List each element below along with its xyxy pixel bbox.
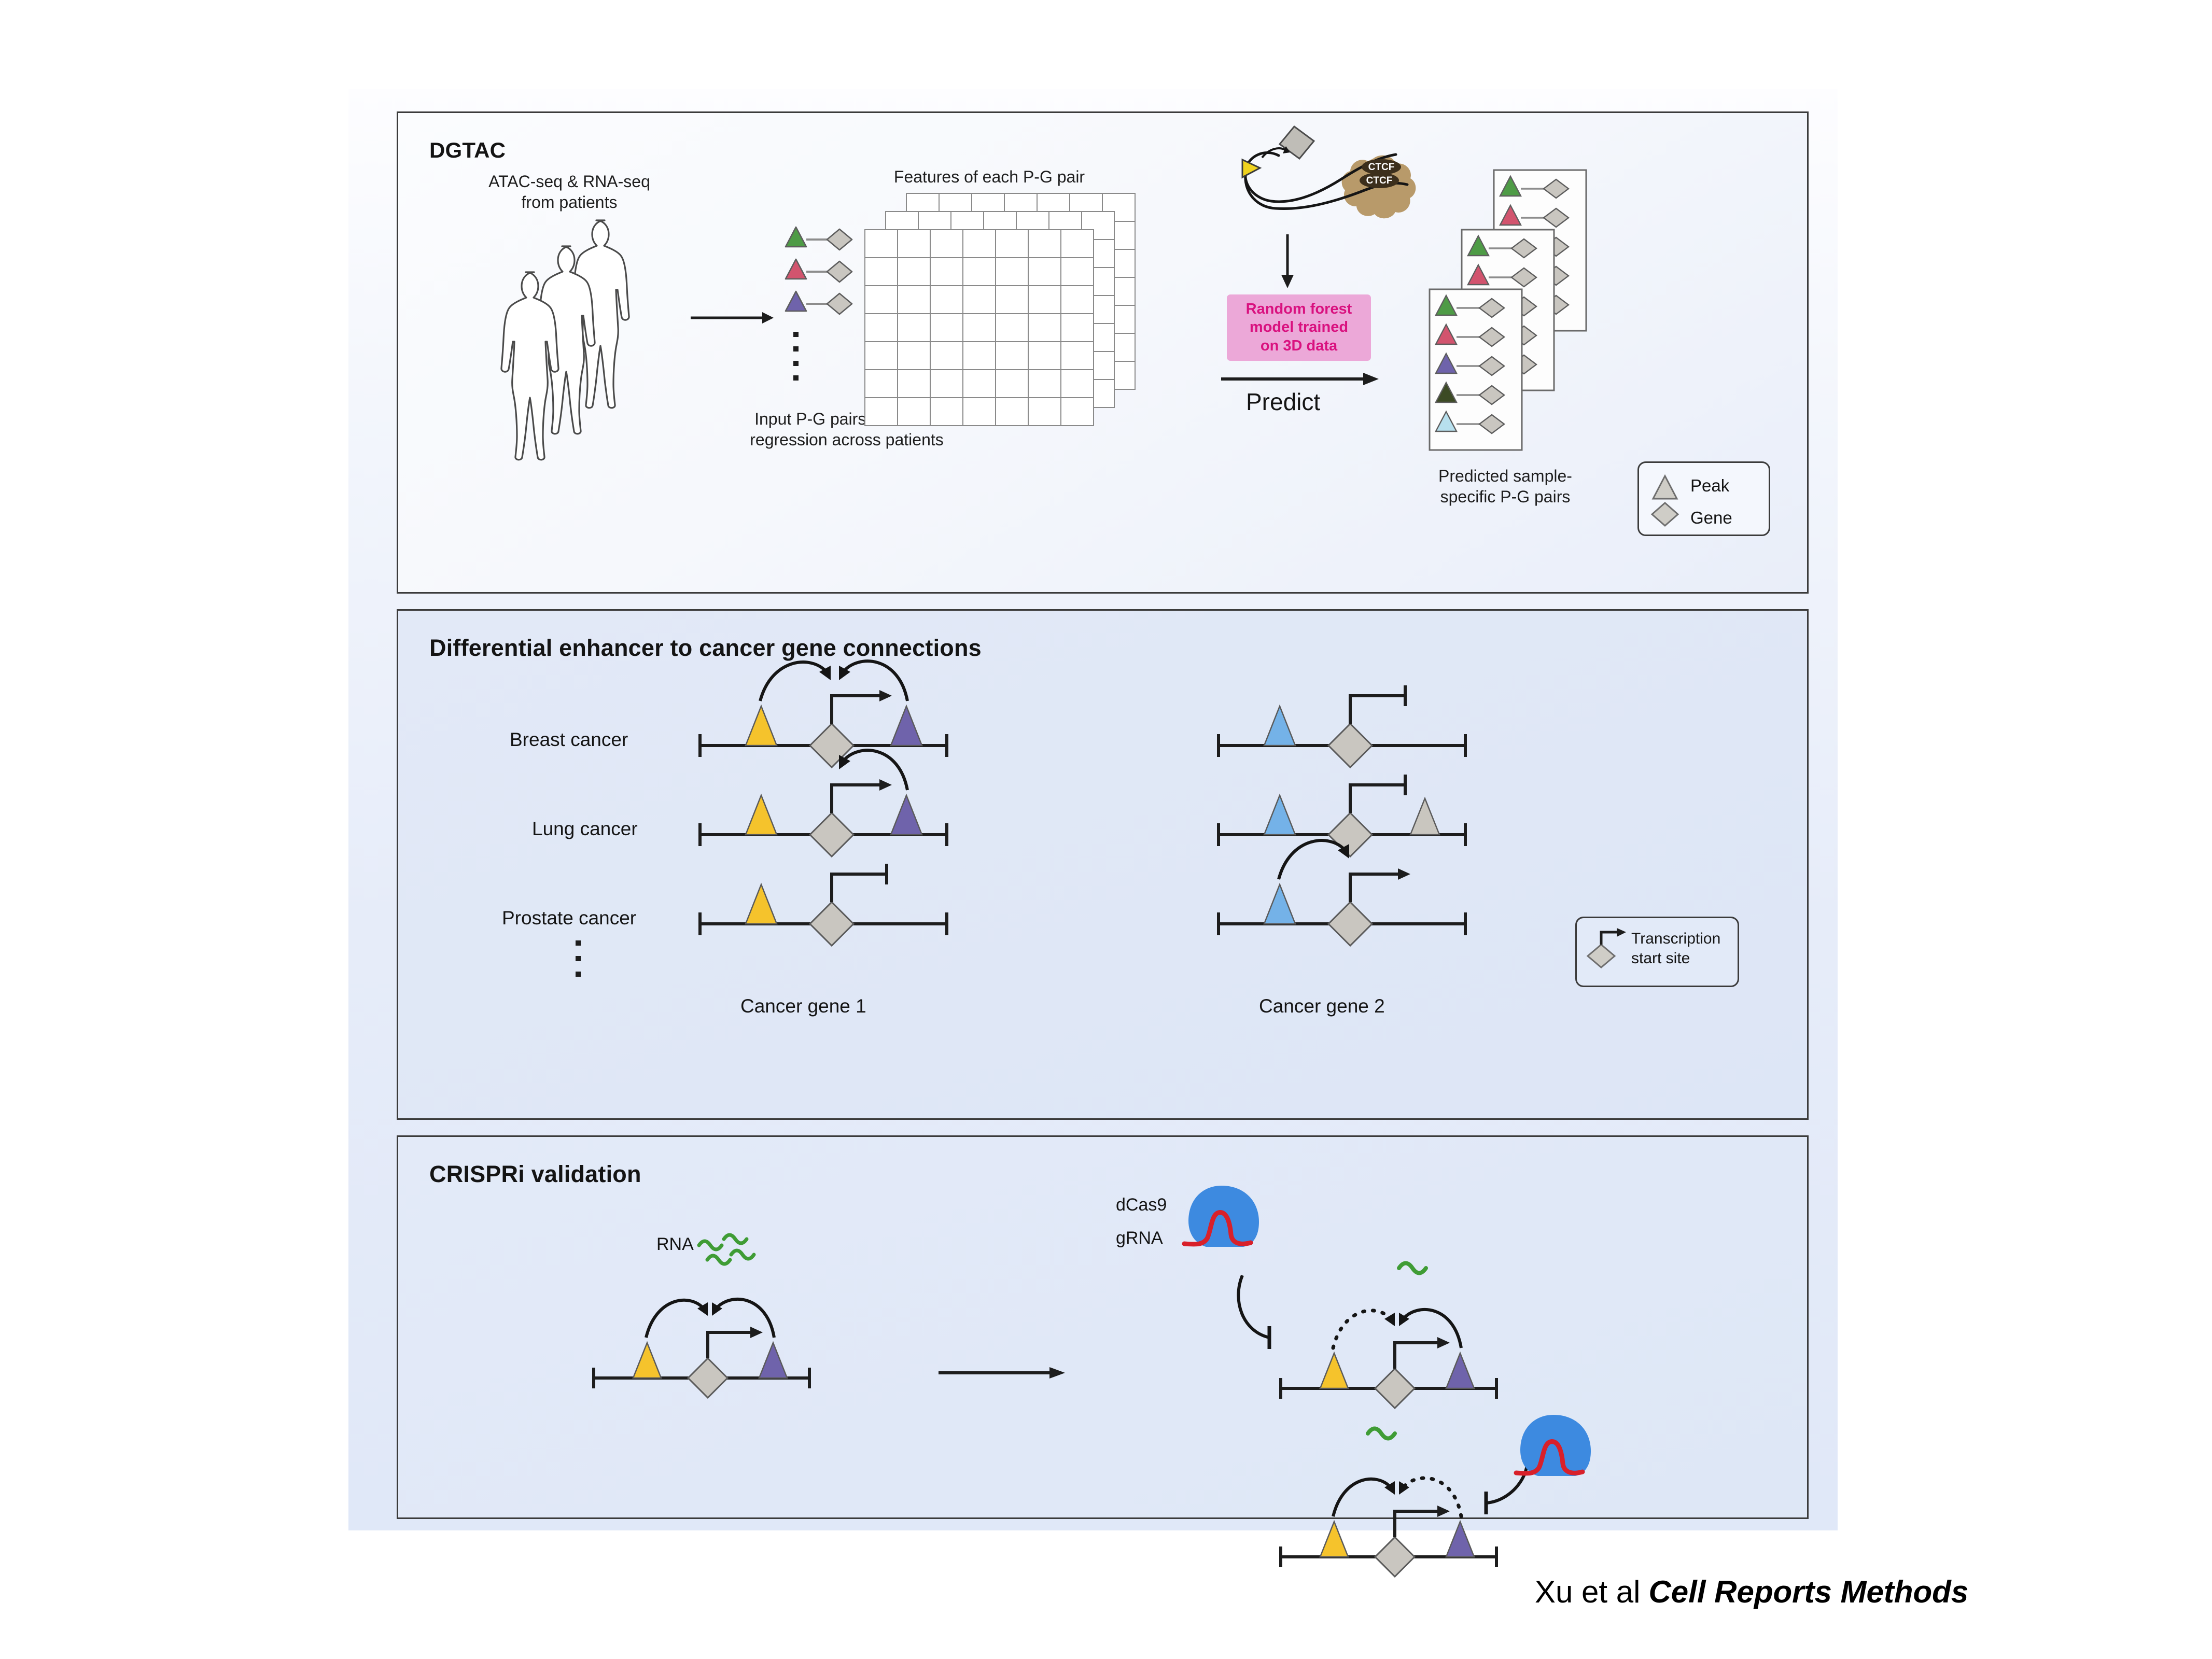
arrow-predict <box>1220 371 1381 387</box>
grna-icon <box>1516 1442 1583 1473</box>
input-pairs-caption: Input P-G pairs based on regression acro… <box>709 409 984 451</box>
peak-left-yellow <box>1320 1522 1348 1557</box>
peak-right-purple <box>759 1343 787 1378</box>
peak-right-purple <box>1446 1522 1474 1557</box>
track-breast-gene2 <box>1217 685 1466 767</box>
rna-squiggle <box>1368 1429 1395 1439</box>
row-label-lung: Lung cancer <box>532 818 638 840</box>
peak-left <box>746 795 777 835</box>
peak-left <box>746 884 777 924</box>
track-breast-gene1 <box>699 661 948 767</box>
peak-right <box>891 795 922 835</box>
atac-rna-caption: ATAC-seq & RNA-seq from patients <box>455 171 683 213</box>
tracks-cancer-gene-2 <box>1197 673 1508 994</box>
arrow-down-to-model <box>1275 233 1300 290</box>
column-label-gene1: Cancer gene 1 <box>740 995 866 1017</box>
panel-differential-title: Differential enhancer to cancer gene con… <box>429 635 982 662</box>
figure-canvas: DGTAC ATAC-seq & RNA-seq from patients <box>348 89 1838 1530</box>
peak-left <box>1264 706 1295 746</box>
tss-legend-label: Transcription start site <box>1631 929 1720 969</box>
arrow-patients-to-pairs <box>689 307 777 328</box>
row-label-prostate: Prostate cancer <box>502 907 636 929</box>
svg-text:CTCF: CTCF <box>1368 162 1395 173</box>
pg-card-back <box>1494 170 1586 331</box>
dcas9-grna-complex-bottom <box>1516 1415 1591 1476</box>
panel-dgtac-title: DGTAC <box>429 138 506 163</box>
random-forest-model-box: Random forest model trained on 3D data <box>1227 294 1371 361</box>
peak-left <box>746 706 777 746</box>
patients-illustration <box>460 204 678 421</box>
peak-right <box>1410 798 1439 835</box>
peak-left-yellow <box>1320 1353 1348 1388</box>
peak-left-yellow <box>633 1343 661 1378</box>
grna-icon <box>1184 1213 1251 1244</box>
credit-author: Xu et al <box>1535 1574 1640 1609</box>
feature-matrix-stack <box>865 193 1197 432</box>
track-lung-gene2 <box>1217 775 1466 856</box>
track-prostate-gene2 <box>1217 840 1466 946</box>
random-forest-model-label: Random forest model trained on 3D data <box>1246 300 1352 356</box>
track-lung-gene1 <box>699 750 948 856</box>
peak-left <box>1264 884 1295 924</box>
track-prostate-gene1 <box>699 864 948 946</box>
peak-right-purple <box>1446 1353 1474 1388</box>
grna-label: gRNA <box>1116 1228 1163 1248</box>
arrow-to-crispri-conditions <box>937 1365 1067 1381</box>
credit-journal: Cell Reports Methods <box>1648 1574 1968 1609</box>
ctcf-labels: CTCF CTCF <box>1360 159 1401 188</box>
matrix-caption: Features of each P-G pair <box>855 166 1124 187</box>
column-label-gene2: Cancer gene 2 <box>1259 995 1385 1017</box>
predict-label: Predict <box>1246 388 1320 416</box>
legend-gene-label: Gene <box>1690 508 1732 528</box>
panel-dgtac: DGTAC ATAC-seq & RNA-seq from patients <box>397 111 1809 594</box>
predicted-pairs-caption: Predicted sample- specific P-G pairs <box>1394 466 1617 508</box>
vertical-ellipsis <box>793 332 799 381</box>
ctcf-blob <box>1342 156 1416 219</box>
input-pg-pairs <box>785 222 862 393</box>
pg-card-middle <box>1462 230 1554 390</box>
tracks-cancer-gene-1 <box>678 673 989 994</box>
dcas9-grna-complex-top <box>1181 1183 1290 1271</box>
rna-label: RNA <box>656 1234 694 1255</box>
figure-credit: Xu et alCell Reports Methods <box>1535 1574 1968 1610</box>
dcas9-label: dCas9 <box>1116 1195 1167 1215</box>
row-label-breast: Breast cancer <box>510 729 628 751</box>
dcas9-icon <box>1520 1415 1591 1476</box>
svg-text:CTCF: CTCF <box>1366 175 1393 186</box>
rna-squiggle <box>1399 1263 1426 1273</box>
crispri-block-left-diagram <box>1197 1238 1612 1435</box>
rows-vertical-ellipsis <box>573 938 585 986</box>
peak-right <box>891 706 922 746</box>
dcas9-icon <box>1188 1186 1259 1247</box>
legend-peak-label: Peak <box>1690 476 1729 496</box>
chromatin-loop-illustration: CTCF CTCF <box>1217 123 1435 253</box>
panel-differential: Differential enhancer to cancer gene con… <box>397 609 1809 1120</box>
panel-crispri: CRISPRi validation RNA <box>397 1135 1809 1519</box>
crispri-baseline-diagram <box>569 1222 901 1440</box>
predicted-pg-cards <box>1427 170 1645 460</box>
peak-left <box>1264 795 1295 835</box>
panel-crispri-title: CRISPRi validation <box>429 1161 641 1188</box>
pg-card-front <box>1430 289 1522 450</box>
